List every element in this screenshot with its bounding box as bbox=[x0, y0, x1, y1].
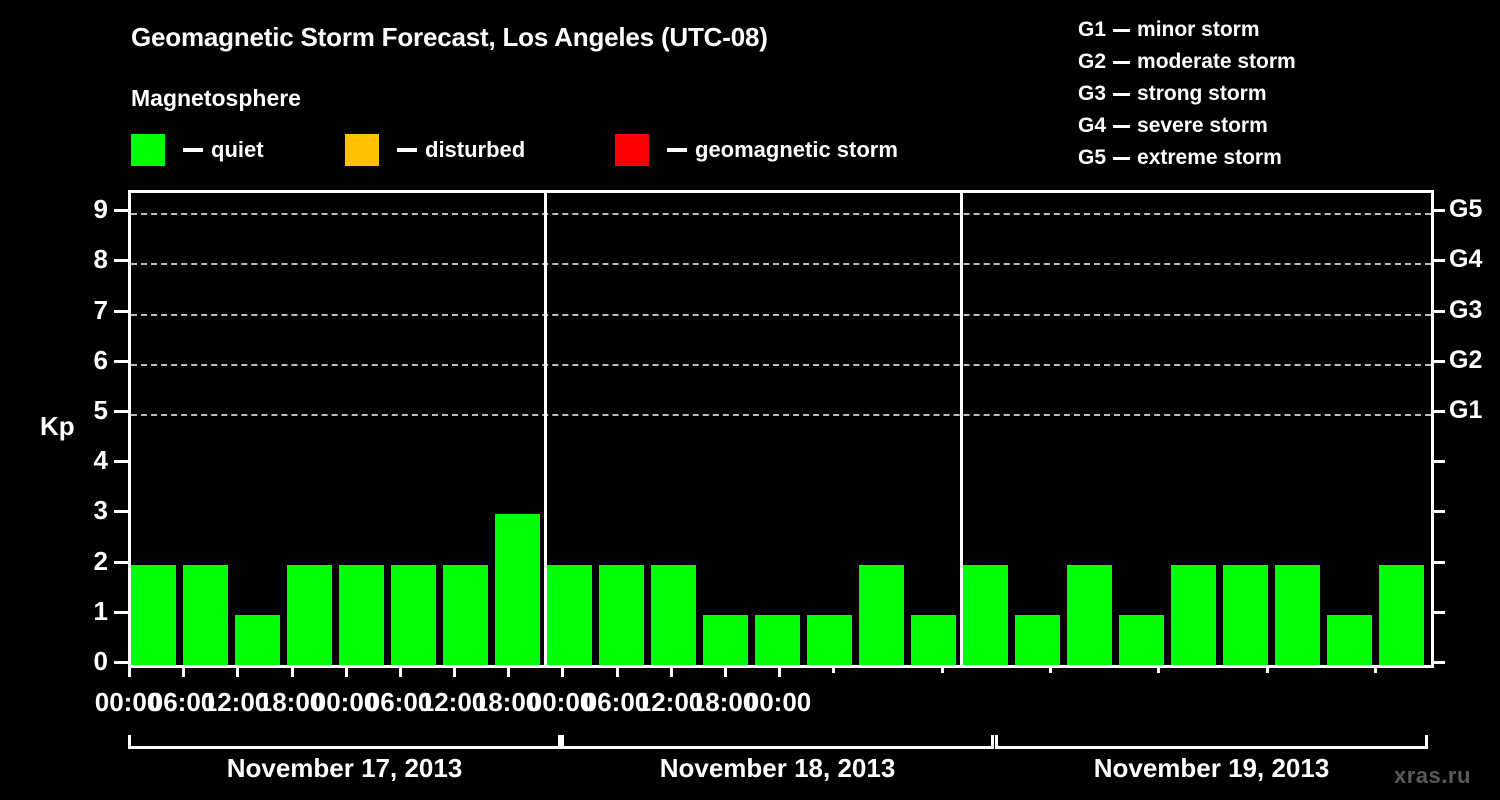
g-scale-row-g1: G1minor storm bbox=[1078, 14, 1296, 46]
g-scale-code: G3 bbox=[1078, 82, 1106, 106]
x-tick bbox=[778, 665, 781, 677]
g-scale-code: G1 bbox=[1078, 18, 1106, 42]
right-tick-g4 bbox=[1431, 259, 1445, 262]
x-tick bbox=[128, 665, 131, 677]
x-tick bbox=[236, 665, 239, 677]
legend-item-disturbed[interactable]: disturbed bbox=[345, 133, 525, 167]
legend-item-quiet[interactable]: quiet bbox=[131, 133, 264, 167]
date-bracket bbox=[128, 735, 561, 749]
y-tick-0 bbox=[114, 661, 128, 664]
right-tick-g2 bbox=[1431, 360, 1445, 363]
g-scale-row-g3: G3strong storm bbox=[1078, 78, 1296, 110]
x-tick-minor bbox=[616, 665, 619, 673]
date-label: November 18, 2013 bbox=[561, 753, 994, 784]
right-tick-minor-3 bbox=[1431, 510, 1445, 513]
x-tick-minor bbox=[1157, 665, 1160, 673]
legend-dash-icon bbox=[183, 148, 203, 152]
bar[interactable] bbox=[1067, 565, 1112, 665]
g-scale-row-g4: G4severe storm bbox=[1078, 110, 1296, 142]
bar[interactable] bbox=[183, 565, 228, 665]
x-tick-minor bbox=[724, 665, 727, 673]
right-tick-g5 bbox=[1431, 209, 1445, 212]
g-scale-code: G2 bbox=[1078, 50, 1106, 74]
x-tick-minor bbox=[291, 665, 294, 673]
bar[interactable] bbox=[755, 615, 800, 665]
x-tick bbox=[561, 665, 564, 677]
bar[interactable] bbox=[807, 615, 852, 665]
right-tick-label: G4 bbox=[1449, 247, 1482, 272]
x-tick-minor bbox=[941, 665, 944, 673]
page-title: Geomagnetic Storm Forecast, Los Angeles … bbox=[131, 22, 768, 53]
right-tick-label: G3 bbox=[1449, 298, 1482, 323]
bar[interactable] bbox=[339, 565, 384, 665]
y-tick-7 bbox=[114, 310, 128, 313]
x-tick bbox=[453, 665, 456, 677]
bar[interactable] bbox=[131, 565, 176, 665]
g-scale-dash-icon bbox=[1113, 61, 1130, 64]
bar[interactable] bbox=[235, 615, 280, 665]
green-swatch bbox=[131, 134, 165, 166]
date-bracket bbox=[561, 735, 994, 749]
bar[interactable] bbox=[391, 565, 436, 665]
g-scale-description: strong storm bbox=[1137, 82, 1267, 106]
gridline-kp-8 bbox=[131, 263, 1431, 265]
y-tick-label: 1 bbox=[68, 598, 108, 624]
x-tick-label: 00:00 bbox=[718, 687, 838, 718]
y-tick-9 bbox=[114, 209, 128, 212]
day-divider-2 bbox=[960, 193, 963, 665]
bar[interactable] bbox=[1223, 565, 1268, 665]
y-tick-label: 7 bbox=[68, 297, 108, 323]
y-tick-3 bbox=[114, 510, 128, 513]
y-tick-label: 6 bbox=[68, 347, 108, 373]
legend-item-label: geomagnetic storm bbox=[695, 137, 898, 163]
bar[interactable] bbox=[1327, 615, 1372, 665]
bar[interactable] bbox=[703, 615, 748, 665]
bar[interactable] bbox=[495, 514, 540, 665]
y-tick-label: 9 bbox=[68, 196, 108, 222]
bar[interactable] bbox=[651, 565, 696, 665]
day-divider-1 bbox=[544, 193, 547, 665]
y-tick-2 bbox=[114, 561, 128, 564]
right-tick-minor-2 bbox=[1431, 561, 1445, 564]
right-tick-g1 bbox=[1431, 410, 1445, 413]
g-scale-description: minor storm bbox=[1137, 18, 1260, 42]
y-tick-5 bbox=[114, 410, 128, 413]
plot-area bbox=[128, 190, 1434, 668]
bar[interactable] bbox=[1379, 565, 1424, 665]
right-tick-label: G2 bbox=[1449, 348, 1482, 373]
watermark: xras.ru bbox=[1394, 763, 1471, 789]
legend-item-geomagnetic-storm[interactable]: geomagnetic storm bbox=[615, 133, 898, 167]
gridline-kp-5 bbox=[131, 414, 1431, 416]
date-bracket bbox=[995, 735, 1428, 749]
gridline-kp-6 bbox=[131, 364, 1431, 366]
plot-inner bbox=[131, 193, 1431, 665]
x-tick-minor bbox=[507, 665, 510, 673]
y-tick-label: 4 bbox=[68, 447, 108, 473]
date-label: November 19, 2013 bbox=[995, 753, 1428, 784]
g-scale-code: G5 bbox=[1078, 146, 1106, 170]
x-tick-minor bbox=[832, 665, 835, 673]
amber-swatch bbox=[345, 134, 379, 166]
y-tick-4 bbox=[114, 460, 128, 463]
bar[interactable] bbox=[547, 565, 592, 665]
x-tick-minor bbox=[182, 665, 185, 673]
bar[interactable] bbox=[1275, 565, 1320, 665]
y-tick-label: 8 bbox=[68, 246, 108, 272]
y-axis-title: Kp bbox=[40, 411, 75, 442]
bar[interactable] bbox=[1119, 615, 1164, 665]
chart-root: Geomagnetic Storm Forecast, Los Angeles … bbox=[0, 0, 1500, 800]
bar[interactable] bbox=[1171, 565, 1216, 665]
date-label: November 17, 2013 bbox=[128, 753, 561, 784]
bar[interactable] bbox=[963, 565, 1008, 665]
bar[interactable] bbox=[1015, 615, 1060, 665]
y-tick-label: 0 bbox=[68, 648, 108, 674]
g-scale-description: moderate storm bbox=[1137, 50, 1296, 74]
right-tick-label: G5 bbox=[1449, 197, 1482, 222]
right-tick-minor-4 bbox=[1431, 460, 1445, 463]
y-tick-6 bbox=[114, 360, 128, 363]
x-tick-minor bbox=[1049, 665, 1052, 673]
legend-item-label: quiet bbox=[211, 137, 264, 163]
g-scale-legend: G1minor stormG2moderate stormG3strong st… bbox=[1078, 14, 1296, 174]
legend-dash-icon bbox=[667, 148, 687, 152]
bar[interactable] bbox=[599, 565, 644, 665]
g-scale-description: severe storm bbox=[1137, 114, 1268, 138]
g-scale-dash-icon bbox=[1113, 29, 1130, 32]
bar[interactable] bbox=[859, 565, 904, 665]
right-tick-minor-0 bbox=[1431, 661, 1445, 664]
gridline-kp-7 bbox=[131, 314, 1431, 316]
right-tick-label: G1 bbox=[1449, 398, 1482, 423]
y-tick-1 bbox=[114, 611, 128, 614]
x-tick bbox=[670, 665, 673, 677]
g-scale-dash-icon bbox=[1113, 93, 1130, 96]
g-scale-row-g2: G2moderate storm bbox=[1078, 46, 1296, 78]
legend-item-label: disturbed bbox=[425, 137, 525, 163]
x-tick-minor bbox=[1374, 665, 1377, 673]
red-swatch bbox=[615, 134, 649, 166]
right-tick-minor-1 bbox=[1431, 611, 1445, 614]
y-tick-label: 3 bbox=[68, 497, 108, 523]
bar[interactable] bbox=[287, 565, 332, 665]
legend-dash-icon bbox=[397, 148, 417, 152]
x-tick bbox=[345, 665, 348, 677]
y-tick-label: 2 bbox=[68, 548, 108, 574]
g-scale-dash-icon bbox=[1113, 157, 1130, 160]
g-scale-code: G4 bbox=[1078, 114, 1106, 138]
gridline-kp-9 bbox=[131, 213, 1431, 215]
x-tick-minor bbox=[1266, 665, 1269, 673]
x-tick-minor bbox=[399, 665, 402, 673]
bar[interactable] bbox=[911, 615, 956, 665]
g-scale-description: extreme storm bbox=[1137, 146, 1282, 170]
right-tick-g3 bbox=[1431, 310, 1445, 313]
bar[interactable] bbox=[443, 565, 488, 665]
magnetosphere-heading: Magnetosphere bbox=[131, 85, 301, 112]
g-scale-row-g5: G5extreme storm bbox=[1078, 142, 1296, 174]
g-scale-dash-icon bbox=[1113, 125, 1130, 128]
y-tick-8 bbox=[114, 259, 128, 262]
